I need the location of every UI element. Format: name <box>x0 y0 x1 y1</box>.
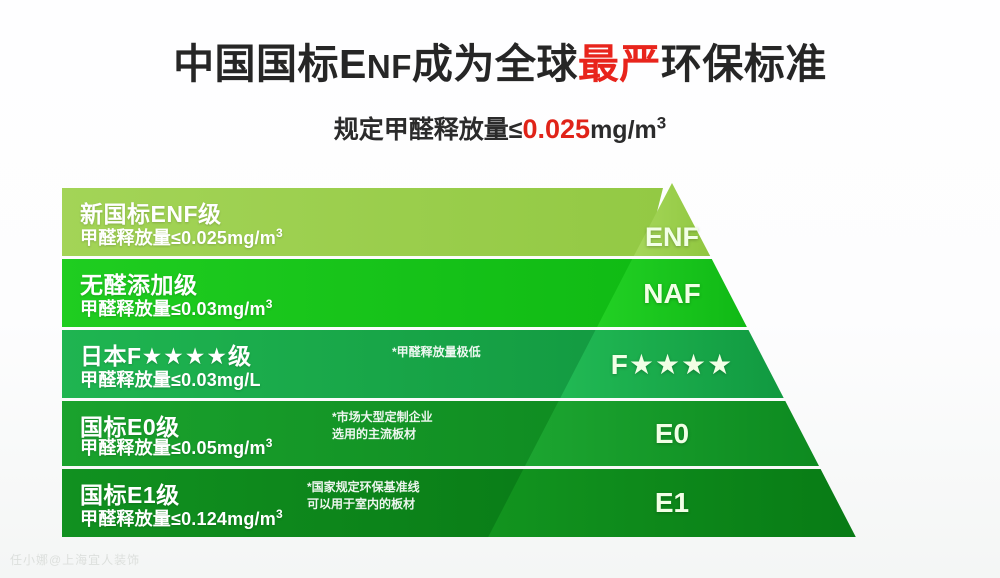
band-note-3: *甲醛释放量极低 <box>392 344 481 361</box>
band-note-5-line2: 可以用于室内的板材 <box>307 496 420 513</box>
band-note-5: *国家规定环保基准线 可以用于室内的板材 <box>307 479 420 514</box>
band-emission-1: 甲醛释放量≤0.025mg/m3 <box>80 224 283 250</box>
band-emission-3: 甲醛释放量≤0.03mg/L <box>80 366 261 392</box>
band-emission-sup-1: 3 <box>276 226 283 240</box>
pyramid-label-enf[interactable]: ENF <box>597 222 747 253</box>
pyramid-label-f4star[interactable]: F★★★★ <box>582 348 762 381</box>
band-emission-text-1: 甲醛释放量≤0.025mg/m <box>80 228 276 248</box>
band-emission-sup-5: 3 <box>276 507 283 521</box>
band-note-4-line2: 选用的主流板材 <box>332 426 433 443</box>
pyramid-label-naf[interactable]: NAF <box>597 278 747 310</box>
pyramid-label-e0[interactable]: E0 <box>597 418 747 450</box>
band-emission-5: 甲醛释放量≤0.124mg/m3 <box>80 505 283 531</box>
band-note-4: *市场大型定制企业 选用的主流板材 <box>332 409 433 444</box>
band-emission-text-5: 甲醛释放量≤0.124mg/m <box>80 509 276 529</box>
band-emission-sup-4: 3 <box>266 436 273 450</box>
band-emission-sup-2: 3 <box>266 297 273 311</box>
band-emission-text-3: 甲醛释放量≤0.03mg/L <box>80 370 261 390</box>
band-note-4-line1: *市场大型定制企业 <box>332 409 433 426</box>
infographic-canvas: 中国国标ENF成为全球最严环保标准 规定甲醛释放量≤0.025mg/m3 <box>0 0 1000 578</box>
band-emission-4: 甲醛释放量≤0.05mg/m3 <box>80 434 273 460</box>
band-emission-2: 甲醛释放量≤0.03mg/m3 <box>80 295 273 321</box>
watermark: 任小娜@上海宜人装饰 <box>10 551 140 568</box>
band-emission-text-2: 甲醛释放量≤0.03mg/m <box>80 299 266 319</box>
band-note-3-line1: *甲醛释放量极低 <box>392 344 481 361</box>
pyramid-label-e1[interactable]: E1 <box>597 487 747 519</box>
band-note-5-line1: *国家规定环保基准线 <box>307 479 420 496</box>
band-emission-text-4: 甲醛释放量≤0.05mg/m <box>80 438 266 458</box>
